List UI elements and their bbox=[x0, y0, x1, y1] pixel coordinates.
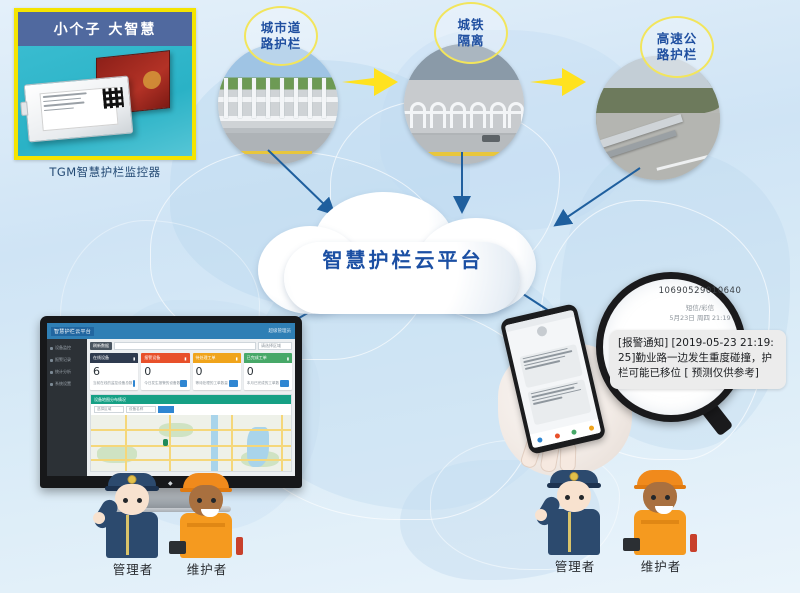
kpi-card-value: 6 bbox=[93, 366, 135, 377]
scene-label-highway-guardrail: 高速公 路护栏 bbox=[640, 16, 714, 78]
label-line-1: 城铁 bbox=[457, 17, 484, 33]
nav-dot-icon[interactable] bbox=[537, 436, 543, 442]
sidebar-item-statistics[interactable]: 统计分析 bbox=[47, 366, 87, 378]
label-line-1: 高速公 bbox=[657, 31, 698, 47]
kpi-card-footnote: 等待处理的工单数量 bbox=[196, 381, 228, 386]
sms-meta: 短信/彩信 5月23日 周四 21:19 bbox=[636, 304, 764, 324]
sidebar-item-label: 设备监控 bbox=[55, 345, 71, 351]
monitor-bezel: 智慧护栏云平台 超级管理员 设备监控 报警记录 bbox=[40, 316, 302, 488]
sidebar-item-label: 报警记录 bbox=[55, 357, 71, 363]
flow-arrow-yellow bbox=[528, 52, 590, 102]
dashboard-main: 刷新数据 请选择区域 在线设备 ▮ 6 bbox=[87, 339, 295, 476]
kpi-card-icon: ▮ bbox=[133, 356, 135, 361]
kpi-card[interactable]: 在线设备 ▮ 6 当前在线的监控设备总数 bbox=[90, 353, 138, 390]
dashboard-header: 智慧护栏云平台 超级管理员 bbox=[47, 323, 295, 339]
scene-label-urban-rail-isolation: 城铁 隔离 bbox=[434, 2, 508, 64]
sidebar-item-alarm-records[interactable]: 报警记录 bbox=[47, 354, 87, 366]
device-map-panel: 设备地图分布情况 选择区域 设备名称 bbox=[90, 394, 292, 472]
kpi-card-footnote: 当前在线的监控设备总数 bbox=[93, 381, 133, 386]
chart-icon bbox=[50, 371, 53, 374]
map-region-filter[interactable]: 选择区域 bbox=[94, 406, 124, 413]
alert-message-bubble: [报警通知] [2019-05-23 21:19:25]勤业路一边发生重度碰撞，… bbox=[610, 330, 786, 389]
sms-timestamp: 5月23日 周四 21:19 bbox=[636, 314, 764, 324]
magnifier-overlay: 10690529010640 短信/彩信 5月23日 周四 21:19 [报警通… bbox=[596, 272, 792, 422]
kpi-card-footnote: 今日发生报警的设备数 bbox=[144, 381, 180, 386]
tool-icon bbox=[236, 537, 243, 555]
map-device-pin[interactable] bbox=[163, 439, 168, 446]
person-label-manager: 管理者 bbox=[113, 559, 154, 578]
sidebar-item-device-monitor[interactable]: 设备监控 bbox=[47, 342, 87, 354]
cloud-platform-title: 智慧护栏云平台 bbox=[258, 244, 548, 273]
kpi-card-detail-button[interactable] bbox=[229, 380, 238, 387]
toolbox-icon bbox=[169, 541, 186, 554]
toolbox-icon bbox=[623, 538, 640, 551]
person-label-maintainer: 维护者 bbox=[187, 559, 228, 578]
sms-sender-number: 10690529010640 bbox=[640, 286, 760, 296]
gear-icon bbox=[50, 383, 53, 386]
kpi-card[interactable]: 报警设备 ▮ 0 今日发生报警的设备数 bbox=[141, 353, 189, 390]
map-search-button[interactable] bbox=[158, 406, 174, 413]
map-device-filter[interactable]: 设备名称 bbox=[126, 406, 156, 413]
person-manager-left: 管理者 bbox=[104, 473, 162, 559]
poster-canvas: 小个子 大智慧 TGM智慧护栏监控器 bbox=[0, 0, 800, 593]
kpi-card-title: 待处理工单 bbox=[196, 355, 216, 361]
kpi-card-icon: ▮ bbox=[236, 356, 238, 361]
scene-label-city-road-fence: 城市道 路护栏 bbox=[244, 6, 318, 66]
label-line-2: 路护栏 bbox=[657, 47, 698, 63]
label-line-2: 隔离 bbox=[457, 33, 484, 49]
region-select[interactable]: 请选择区域 bbox=[258, 342, 292, 350]
avatar bbox=[536, 325, 548, 337]
kpi-card-value: 0 bbox=[247, 366, 289, 377]
bell-icon bbox=[50, 359, 53, 362]
dashboard-sidebar: 设备监控 报警记录 统计分析 系统设置 bbox=[47, 339, 87, 476]
nav-dot-icon[interactable] bbox=[588, 425, 594, 431]
search-input[interactable] bbox=[114, 342, 256, 350]
kpi-card-value: 0 bbox=[144, 366, 186, 377]
label-line-2: 路护栏 bbox=[261, 36, 302, 52]
person-label-manager: 管理者 bbox=[555, 556, 596, 575]
dashboard-toolbar: 刷新数据 请选择区域 bbox=[90, 342, 292, 350]
cap-badge-icon bbox=[128, 475, 137, 484]
flow-arrow-yellow bbox=[340, 52, 402, 102]
kpi-card-detail-button[interactable] bbox=[180, 380, 186, 387]
tool-icon bbox=[690, 534, 697, 552]
cap-badge-icon bbox=[570, 472, 579, 481]
person-maintainer-left: 维护者 bbox=[178, 473, 236, 559]
sidebar-item-label: 系统设置 bbox=[55, 381, 71, 387]
kpi-card-footnote: 本月已完成的工单数 bbox=[247, 381, 279, 386]
sidebar-item-settings[interactable]: 系统设置 bbox=[47, 378, 87, 390]
sidebar-item-label: 统计分析 bbox=[55, 369, 71, 375]
kpi-card-row: 在线设备 ▮ 6 当前在线的监控设备总数 报警设备 bbox=[90, 353, 292, 390]
person-label-maintainer: 维护者 bbox=[641, 556, 682, 575]
sms-type-label: 短信/彩信 bbox=[636, 304, 764, 314]
kpi-card-title: 在线设备 bbox=[93, 355, 109, 361]
refresh-button[interactable]: 刷新数据 bbox=[90, 342, 112, 350]
dashboard-screen[interactable]: 智慧护栏云平台 超级管理员 设备监控 报警记录 bbox=[47, 323, 295, 476]
brand-logo: ◆ bbox=[168, 480, 174, 486]
monitor-icon bbox=[50, 347, 53, 350]
cloud-platform-graphic: 智慧护栏云平台 bbox=[258, 192, 548, 316]
nav-dot-icon[interactable] bbox=[571, 429, 577, 435]
nav-dot-icon[interactable] bbox=[554, 433, 560, 439]
kpi-card-title: 报警设备 bbox=[144, 355, 160, 361]
kpi-card-detail-button[interactable] bbox=[133, 380, 136, 387]
alert-message-text: [报警通知] [2019-05-23 21:19:25]勤业路一边发生重度碰撞，… bbox=[618, 336, 778, 382]
dashboard-user-menu[interactable]: 超级管理员 bbox=[269, 328, 292, 334]
kpi-card-value: 0 bbox=[196, 366, 238, 377]
kpi-card-icon: ▮ bbox=[287, 356, 289, 361]
dashboard-brand[interactable]: 智慧护栏云平台 bbox=[51, 327, 94, 336]
kpi-card-detail-button[interactable] bbox=[280, 380, 289, 387]
label-line-1: 城市道 bbox=[261, 20, 302, 36]
kpi-card[interactable]: 待处理工单 ▮ 0 等待处理的工单数量 bbox=[193, 353, 241, 390]
person-manager-right: 管理者 bbox=[546, 470, 604, 556]
person-maintainer-right: 维护者 bbox=[632, 470, 690, 556]
kpi-card-title: 已完成工单 bbox=[247, 355, 267, 361]
kpi-card[interactable]: 已完成工单 ▮ 0 本月已完成的工单数 bbox=[244, 353, 292, 390]
message-bubble[interactable] bbox=[527, 379, 591, 425]
desktop-monitor: 智慧护栏云平台 超级管理员 设备监控 报警记录 bbox=[40, 316, 302, 488]
device-map[interactable] bbox=[91, 415, 291, 471]
kpi-card-icon: ▮ bbox=[184, 356, 186, 361]
device-map-panel-title: 设备地图分布情况 bbox=[91, 395, 291, 404]
